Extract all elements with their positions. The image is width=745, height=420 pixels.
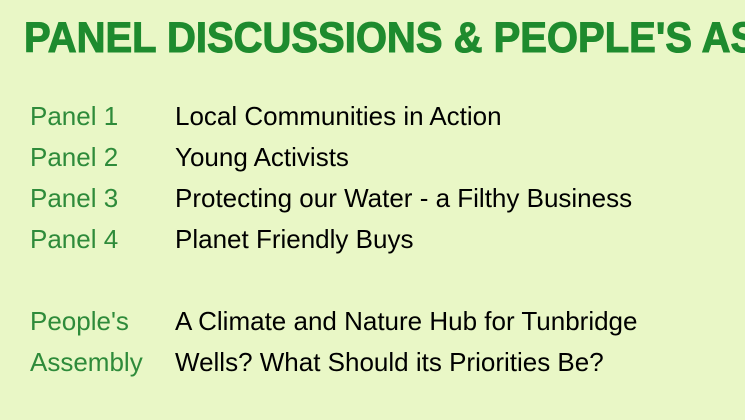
panel-label: Panel 3 xyxy=(30,178,118,219)
panel-row: Panel 2 Young Activists xyxy=(0,137,745,178)
panel-description: Local Communities in Action xyxy=(175,96,502,137)
block-spacer xyxy=(0,260,745,301)
page-title: Panel Discussions & People's Assembly xyxy=(24,14,675,62)
panel-row: Panel 1 Local Communities in Action xyxy=(0,96,745,137)
assembly-label-line-2: Assembly xyxy=(30,342,143,383)
panel-description: Planet Friendly Buys xyxy=(175,219,413,260)
panel-row: Panel 4 Planet Friendly Buys xyxy=(0,219,745,260)
slide-canvas: Panel Discussions & People's Assembly Pa… xyxy=(0,0,745,420)
panel-label: Panel 1 xyxy=(30,96,118,137)
panel-list: Panel 1 Local Communities in Action Pane… xyxy=(0,96,745,301)
panel-row: Panel 3 Protecting our Water - a Filthy … xyxy=(0,178,745,219)
panel-description: Protecting our Water - a Filthy Business xyxy=(175,178,632,219)
panel-label: Panel 2 xyxy=(30,137,118,178)
panel-label: Panel 4 xyxy=(30,219,118,260)
assembly-description-line-1: A Climate and Nature Hub for Tunbridge xyxy=(175,301,637,342)
assembly-description-line-2: Wells? What Should its Priorities Be? xyxy=(175,342,604,383)
assembly-label-line-1: People's xyxy=(30,301,129,342)
panel-description: Young Activists xyxy=(175,137,349,178)
